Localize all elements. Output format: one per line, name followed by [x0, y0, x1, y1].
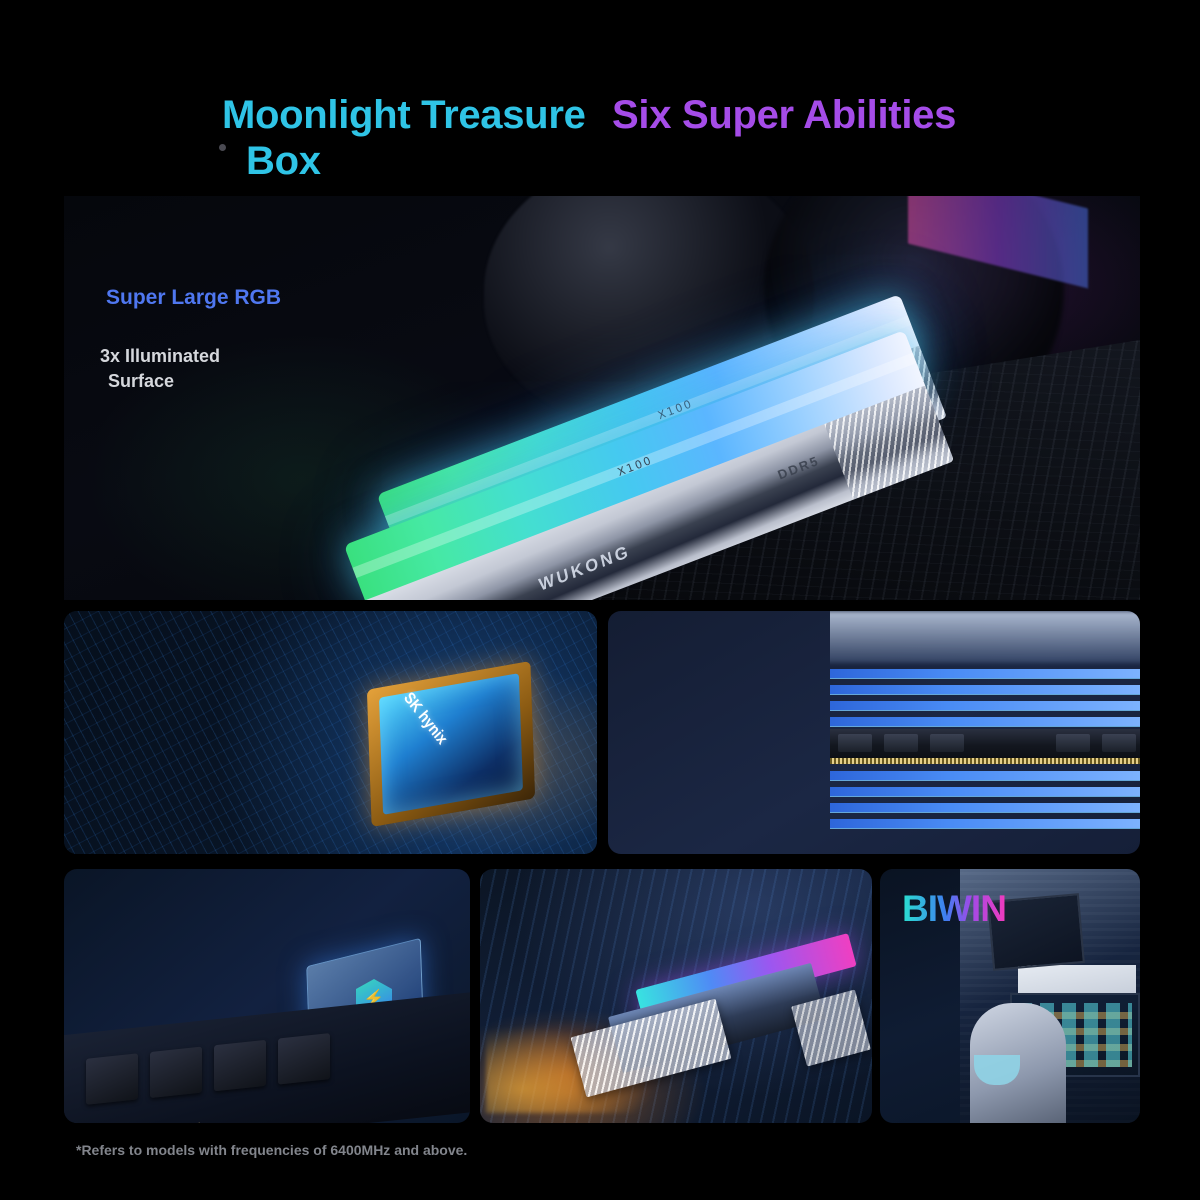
hero-rgb-module-image: X100 X100 WUKONG DDR5: [64, 196, 1140, 600]
dram-ic: [278, 1033, 330, 1084]
sub-line1: Powerful: [0, 47, 63, 64]
pcb-layer: [830, 717, 1140, 726]
hero-subtext: 3x Illuminated Surface: [100, 344, 220, 394]
dram-ic: [1056, 734, 1090, 752]
page-title-left-line1: Moonlight Treasure: [222, 93, 586, 137]
dram-ic: [86, 1053, 138, 1104]
memory-pcb-illustration: [64, 989, 470, 1123]
card-sub-micron-particles: Micron Particles: [0, 24, 1200, 46]
dram-ic: [150, 1047, 202, 1098]
bullet-dot-icon: [219, 144, 226, 151]
product-feature-page: Moonlight Treasure Box Six Super Abiliti…: [0, 0, 1200, 1200]
pcb-layer: [830, 787, 1140, 796]
pcb-top-blur: [830, 611, 1140, 663]
chip-die: SK hynix: [379, 673, 523, 815]
feature-card-aluminum-armor: [480, 869, 872, 1123]
feature-card-pcb: [608, 611, 1140, 854]
feature-card-pmic: [64, 869, 470, 1123]
page-title-right: Six Super Abilities: [612, 92, 1082, 138]
hero-heading: Super Large RGB: [106, 286, 281, 310]
footnote-text: *Refers to models with frequencies of 64…: [76, 1142, 467, 1158]
pcb-layer: [830, 669, 1140, 678]
dram-ic: [214, 1040, 266, 1091]
pcb-layer: [830, 685, 1140, 694]
page-title-left-line2: Box: [222, 138, 692, 184]
memory-chip-illustration: SK hynix: [379, 673, 523, 815]
page-title-block: Moonlight Treasure Box Six Super Abiliti…: [0, 80, 1200, 190]
card-heading-strictly-selected: Strictly Selected: [0, 0, 1200, 24]
dram-ic: [930, 734, 964, 752]
pcb-layer: [830, 701, 1140, 710]
memory-module-cross-section: [830, 729, 1140, 759]
pcb-layer: [830, 803, 1140, 812]
hero-subtext-line2: Surface: [100, 369, 220, 394]
dram-ic: [884, 734, 918, 752]
dram-ic: [1102, 734, 1136, 752]
hero-subtext-line1: 3x Illuminated: [100, 346, 220, 366]
chip-brand-label: SK hynix: [400, 689, 451, 749]
lab-technician: [970, 1003, 1066, 1123]
pcb-layer-stack-illustration: [830, 611, 1140, 854]
biwin-logo: BIWIN: [902, 888, 1006, 930]
pcb-layer: [830, 771, 1140, 780]
dram-ic: [838, 734, 872, 752]
pcb-layer: [830, 819, 1140, 828]
